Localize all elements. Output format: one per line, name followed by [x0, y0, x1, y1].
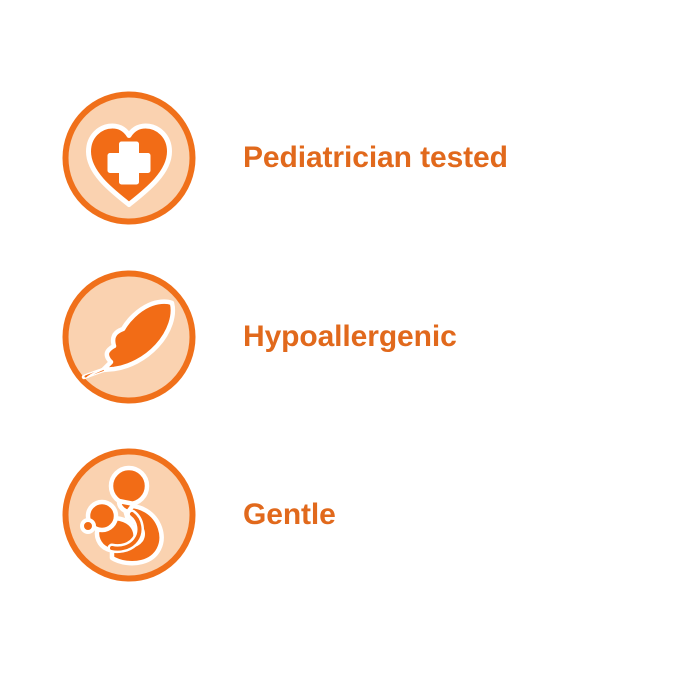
benefit-label: Pediatrician tested: [243, 143, 508, 173]
benefit-item-gentle: Gentle: [0, 445, 679, 585]
heart-with-cross-icon: [62, 91, 196, 225]
mother-and-baby-icon: [62, 448, 196, 582]
benefits-panel: Pediatrician tested Hypoallergenic: [0, 0, 679, 679]
benefit-item-pediatrician-tested: Pediatrician tested: [0, 88, 679, 228]
feather-icon: [62, 270, 196, 404]
benefit-label: Hypoallergenic: [243, 322, 457, 352]
benefit-label: Gentle: [243, 500, 336, 530]
benefit-item-hypoallergenic: Hypoallergenic: [0, 267, 679, 407]
